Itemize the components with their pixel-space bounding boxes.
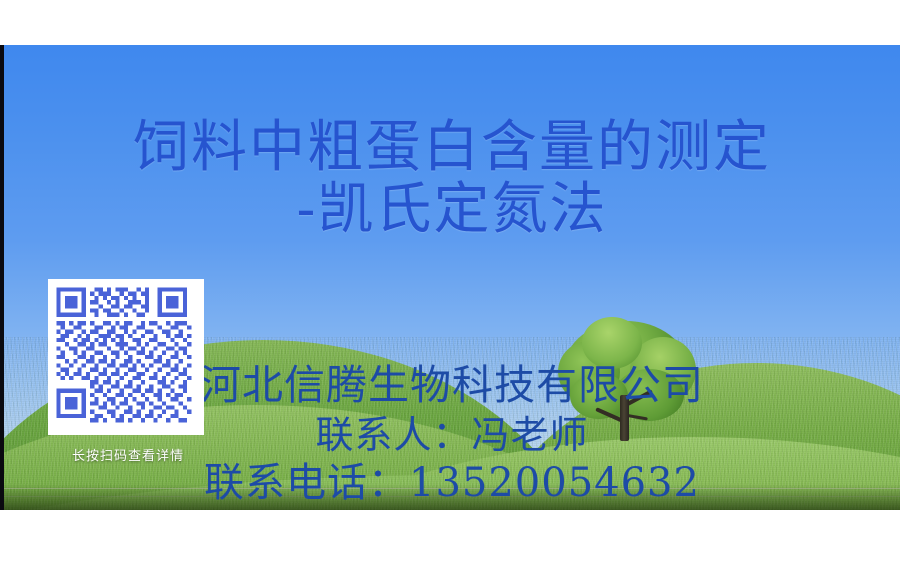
slide-title: 饲料中粗蛋白含量的测定 -凯氏定氮法 xyxy=(4,119,900,239)
qr-code-svg xyxy=(48,279,204,435)
title-line-primary: 饲料中粗蛋白含量的测定 xyxy=(4,119,900,177)
video-slide-artwork: 饲料中粗蛋白含量的测定 -凯氏定氮法 河北信腾生物科技有限公司 联系人：冯老师 … xyxy=(4,45,900,510)
qr-code-overlay[interactable]: 长按扫码查看详情 xyxy=(48,279,208,464)
video-player-viewport[interactable]: 饲料中粗蛋白含量的测定 -凯氏定氮法 河北信腾生物科技有限公司 联系人：冯老师 … xyxy=(0,45,900,510)
letterbox-left-edge xyxy=(0,45,4,510)
contact-phone: 联系电话：13520054632 xyxy=(4,461,900,506)
screenshot-stage: 饲料中粗蛋白含量的测定 -凯氏定氮法 河北信腾生物科技有限公司 联系人：冯老师 … xyxy=(0,0,900,561)
qr-code-caption: 长按扫码查看详情 xyxy=(48,445,208,464)
title-line-subtitle: -凯氏定氮法 xyxy=(4,181,900,239)
qr-code-image[interactable] xyxy=(48,279,204,435)
